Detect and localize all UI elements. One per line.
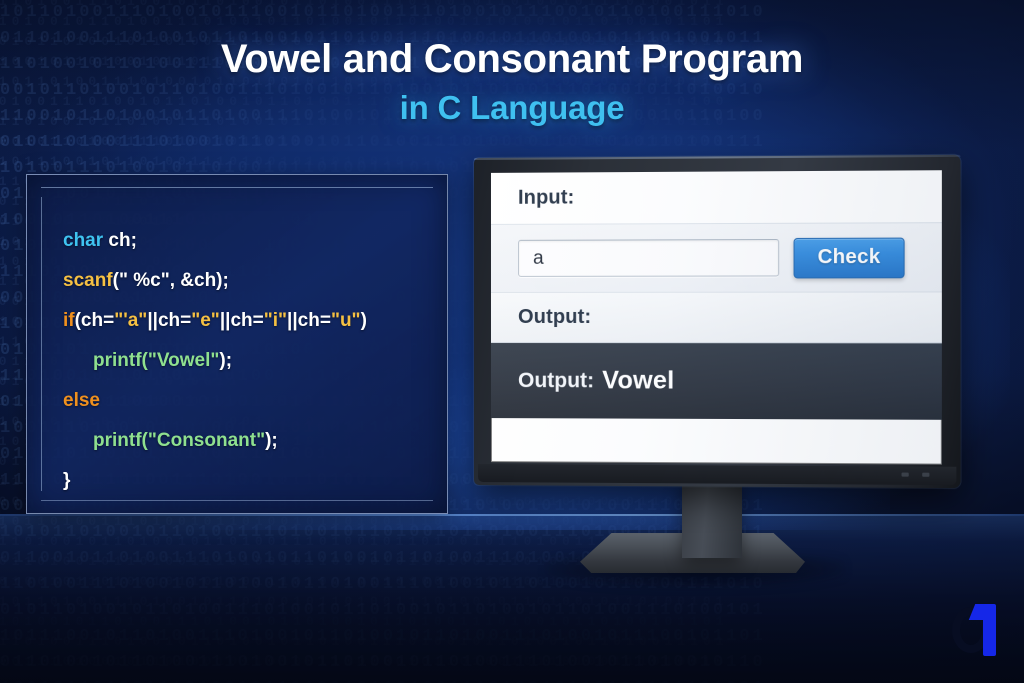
output-label-row: Output: <box>491 292 942 343</box>
title-sub-line: in C Language <box>0 86 1024 130</box>
code-token-string: printf("Consonant" <box>93 430 265 451</box>
monitor-chin <box>478 464 956 485</box>
logo-one-stem <box>983 604 996 656</box>
code-line: else <box>63 381 437 421</box>
code-token-function: "'a" <box>114 310 147 331</box>
code-token-plain: ||ch= <box>147 310 191 331</box>
code-line: printf("Vowel"); <box>63 341 437 381</box>
input-field-row: a Check <box>491 223 942 293</box>
output-result-prefix: Output: <box>518 369 594 393</box>
monitor-power-button[interactable] <box>902 473 909 477</box>
desk-surface <box>0 514 1024 683</box>
input-label-row: Input: <box>491 170 942 225</box>
output-label: Output: <box>518 306 591 329</box>
code-line: char ch; <box>63 221 437 261</box>
code-token-plain: ||ch= <box>220 310 264 331</box>
code-token-plain: ) <box>361 310 367 331</box>
code-token-plain: ); <box>219 350 232 371</box>
code-token-plain: ch; <box>103 230 137 251</box>
code-line: printf("Consonant"); <box>63 421 437 461</box>
character-input[interactable]: a <box>518 239 779 277</box>
code-line: if(ch="'a"||ch="e"||ch="i"||ch="u") <box>63 301 437 341</box>
code-token-function: "i" <box>264 310 287 331</box>
monitor-menu-button[interactable] <box>922 473 929 477</box>
monitor-stand-neck <box>682 478 742 558</box>
desk-front-edge <box>0 514 1024 516</box>
code-block: char ch;scanf(" %c", &ch);if(ch="'a"||ch… <box>63 221 437 501</box>
code-token-control: if <box>63 310 75 331</box>
output-result-row: Output: Vowel <box>491 343 942 420</box>
computer-monitor: Input: a Check Output: Output: Vowel <box>474 155 961 488</box>
code-token-control: else <box>63 390 100 411</box>
monitor-bezel-highlight <box>474 155 961 160</box>
check-button[interactable]: Check <box>794 237 905 278</box>
code-token-plain: (" %c", &ch); <box>113 270 229 291</box>
input-label: Input: <box>518 186 574 209</box>
code-line: scanf(" %c", &ch); <box>63 261 437 301</box>
code-panel: char ch;scanf(" %c", &ch);if(ch="'a"||ch… <box>26 174 448 514</box>
code-token-function: scanf <box>63 270 113 291</box>
code-panel-top-rule <box>41 187 433 188</box>
code-token-plain: (ch= <box>75 310 115 331</box>
title-main-line: Vowel and Consonant Program <box>0 34 1024 84</box>
poster-canvas: 1011010011101001011100101101001110100101… <box>0 0 1024 683</box>
page-title: Vowel and Consonant Program in C Languag… <box>0 34 1024 130</box>
code-token-function: "e" <box>191 310 220 331</box>
code-line: } <box>63 461 437 501</box>
code-token-plain: ||ch= <box>287 310 331 331</box>
code-token-function: "u" <box>331 310 361 331</box>
monitor-screen: Input: a Check Output: Output: Vowel <box>491 170 942 464</box>
code-token-string: printf("Vowel" <box>93 350 219 371</box>
code-token-plain: } <box>63 470 70 491</box>
code-token-keyword: char <box>63 230 103 251</box>
code-token-plain: ); <box>265 430 278 451</box>
output-result-value: Vowel <box>602 366 674 395</box>
zero-one-logo[interactable] <box>950 601 1008 659</box>
